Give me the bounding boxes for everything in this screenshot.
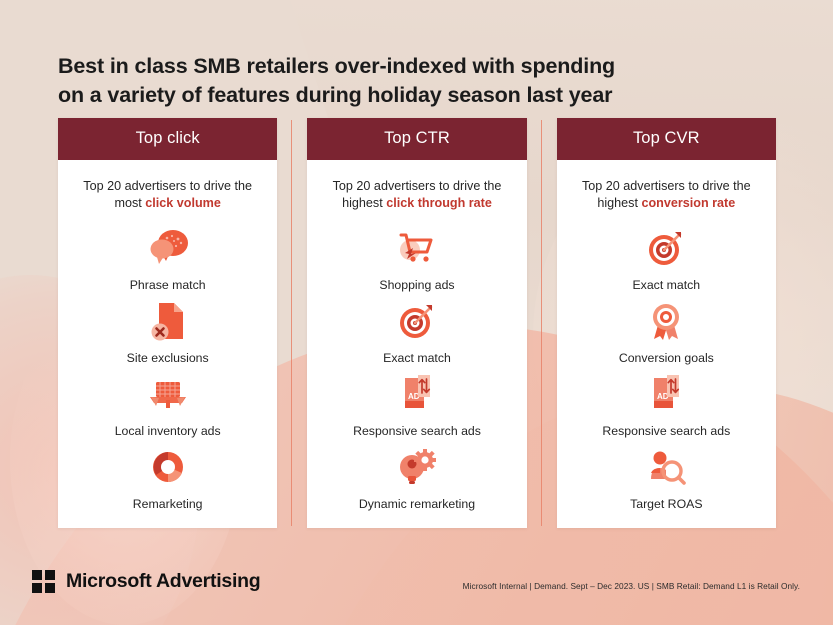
card-items-top-cvr: Exact match Conversion goals: [557, 213, 776, 528]
card-subtitle-top-ctr: Top 20 advertisers to drive the highest …: [307, 160, 526, 213]
card-subtitle-highlight: click through rate: [386, 196, 492, 210]
list-item[interactable]: Remarketing: [68, 444, 267, 512]
slide-title-line-1: Best in class SMB retailers over-indexed…: [58, 54, 615, 78]
list-item[interactable]: Exact match: [567, 225, 766, 293]
microsoft-advertising-logo: Microsoft Advertising: [32, 570, 260, 593]
list-item-label: Dynamic remarketing: [359, 497, 475, 512]
award-rosette-icon: [643, 298, 689, 344]
list-item-label: Exact match: [383, 351, 451, 366]
person-magnifier-icon: [643, 444, 689, 490]
list-item-label: Phrase match: [130, 278, 206, 293]
list-item-label: Site exclusions: [127, 351, 209, 366]
shopping-cart-icon: [394, 225, 440, 271]
list-item-label: Responsive search ads: [602, 424, 730, 439]
list-item-label: Target ROAS: [630, 497, 702, 512]
list-item-label: Conversion goals: [619, 351, 714, 366]
card-top-cvr: Top CVR Top 20 advertisers to drive the …: [557, 118, 776, 528]
document-exclude-icon: [145, 298, 191, 344]
list-item[interactable]: AD Responsive search ads: [317, 371, 516, 439]
donut-refresh-icon: [145, 444, 191, 490]
list-item-label: Exact match: [632, 278, 700, 293]
list-item[interactable]: Shopping ads: [317, 225, 516, 293]
list-item[interactable]: AD Responsive search ads: [567, 371, 766, 439]
list-item-label: Remarketing: [133, 497, 203, 512]
slide-title-line-2: on a variety of features during holiday …: [58, 81, 698, 110]
list-item[interactable]: Exact match: [317, 298, 516, 366]
source-footnote: Microsoft Internal | Demand. Sept – Dec …: [463, 581, 800, 591]
ad-card-arrows-icon: AD: [394, 371, 440, 417]
card-subtitle-top-cvr: Top 20 advertisers to drive the highest …: [557, 160, 776, 213]
card-header-top-click: Top click: [58, 118, 277, 160]
target-dart-icon: [643, 225, 689, 271]
card-subtitle-highlight: click volume: [145, 196, 221, 210]
list-item[interactable]: Local inventory ads: [68, 371, 267, 439]
list-item[interactable]: Site exclusions: [68, 298, 267, 366]
target-dart-icon: [394, 298, 440, 344]
microsoft-squares-icon: [32, 570, 55, 593]
slide-title: Best in class SMB retailers over-indexed…: [58, 52, 698, 109]
list-item[interactable]: Target ROAS: [567, 444, 766, 512]
speech-bubbles-icon: [145, 225, 191, 271]
list-item[interactable]: Dynamic remarketing: [317, 444, 516, 512]
card-items-top-ctr: Shopping ads Exact: [307, 213, 526, 528]
card-subtitle-top-click: Top 20 advertisers to drive the most cli…: [58, 160, 277, 213]
list-item-label: Local inventory ads: [115, 424, 221, 439]
storefront-awning-icon: [145, 371, 191, 417]
ad-card-arrows-icon: AD: [643, 371, 689, 417]
list-item-label: Responsive search ads: [353, 424, 481, 439]
column-cards: Top click Top 20 advertisers to drive th…: [58, 118, 776, 528]
lightbulb-gear-icon: [394, 444, 440, 490]
card-items-top-click: Phrase match Site exclusions: [58, 213, 277, 528]
brand-wordmark: Microsoft Advertising: [66, 570, 260, 593]
card-top-click: Top click Top 20 advertisers to drive th…: [58, 118, 277, 528]
list-item[interactable]: Conversion goals: [567, 298, 766, 366]
card-header-top-ctr: Top CTR: [307, 118, 526, 160]
card-header-top-cvr: Top CVR: [557, 118, 776, 160]
card-top-ctr: Top CTR Top 20 advertisers to drive the …: [307, 118, 526, 528]
card-subtitle-highlight: conversion rate: [641, 196, 735, 210]
slide-canvas: Best in class SMB retailers over-indexed…: [0, 0, 833, 625]
list-item[interactable]: Phrase match: [68, 225, 267, 293]
list-item-label: Shopping ads: [379, 278, 454, 293]
